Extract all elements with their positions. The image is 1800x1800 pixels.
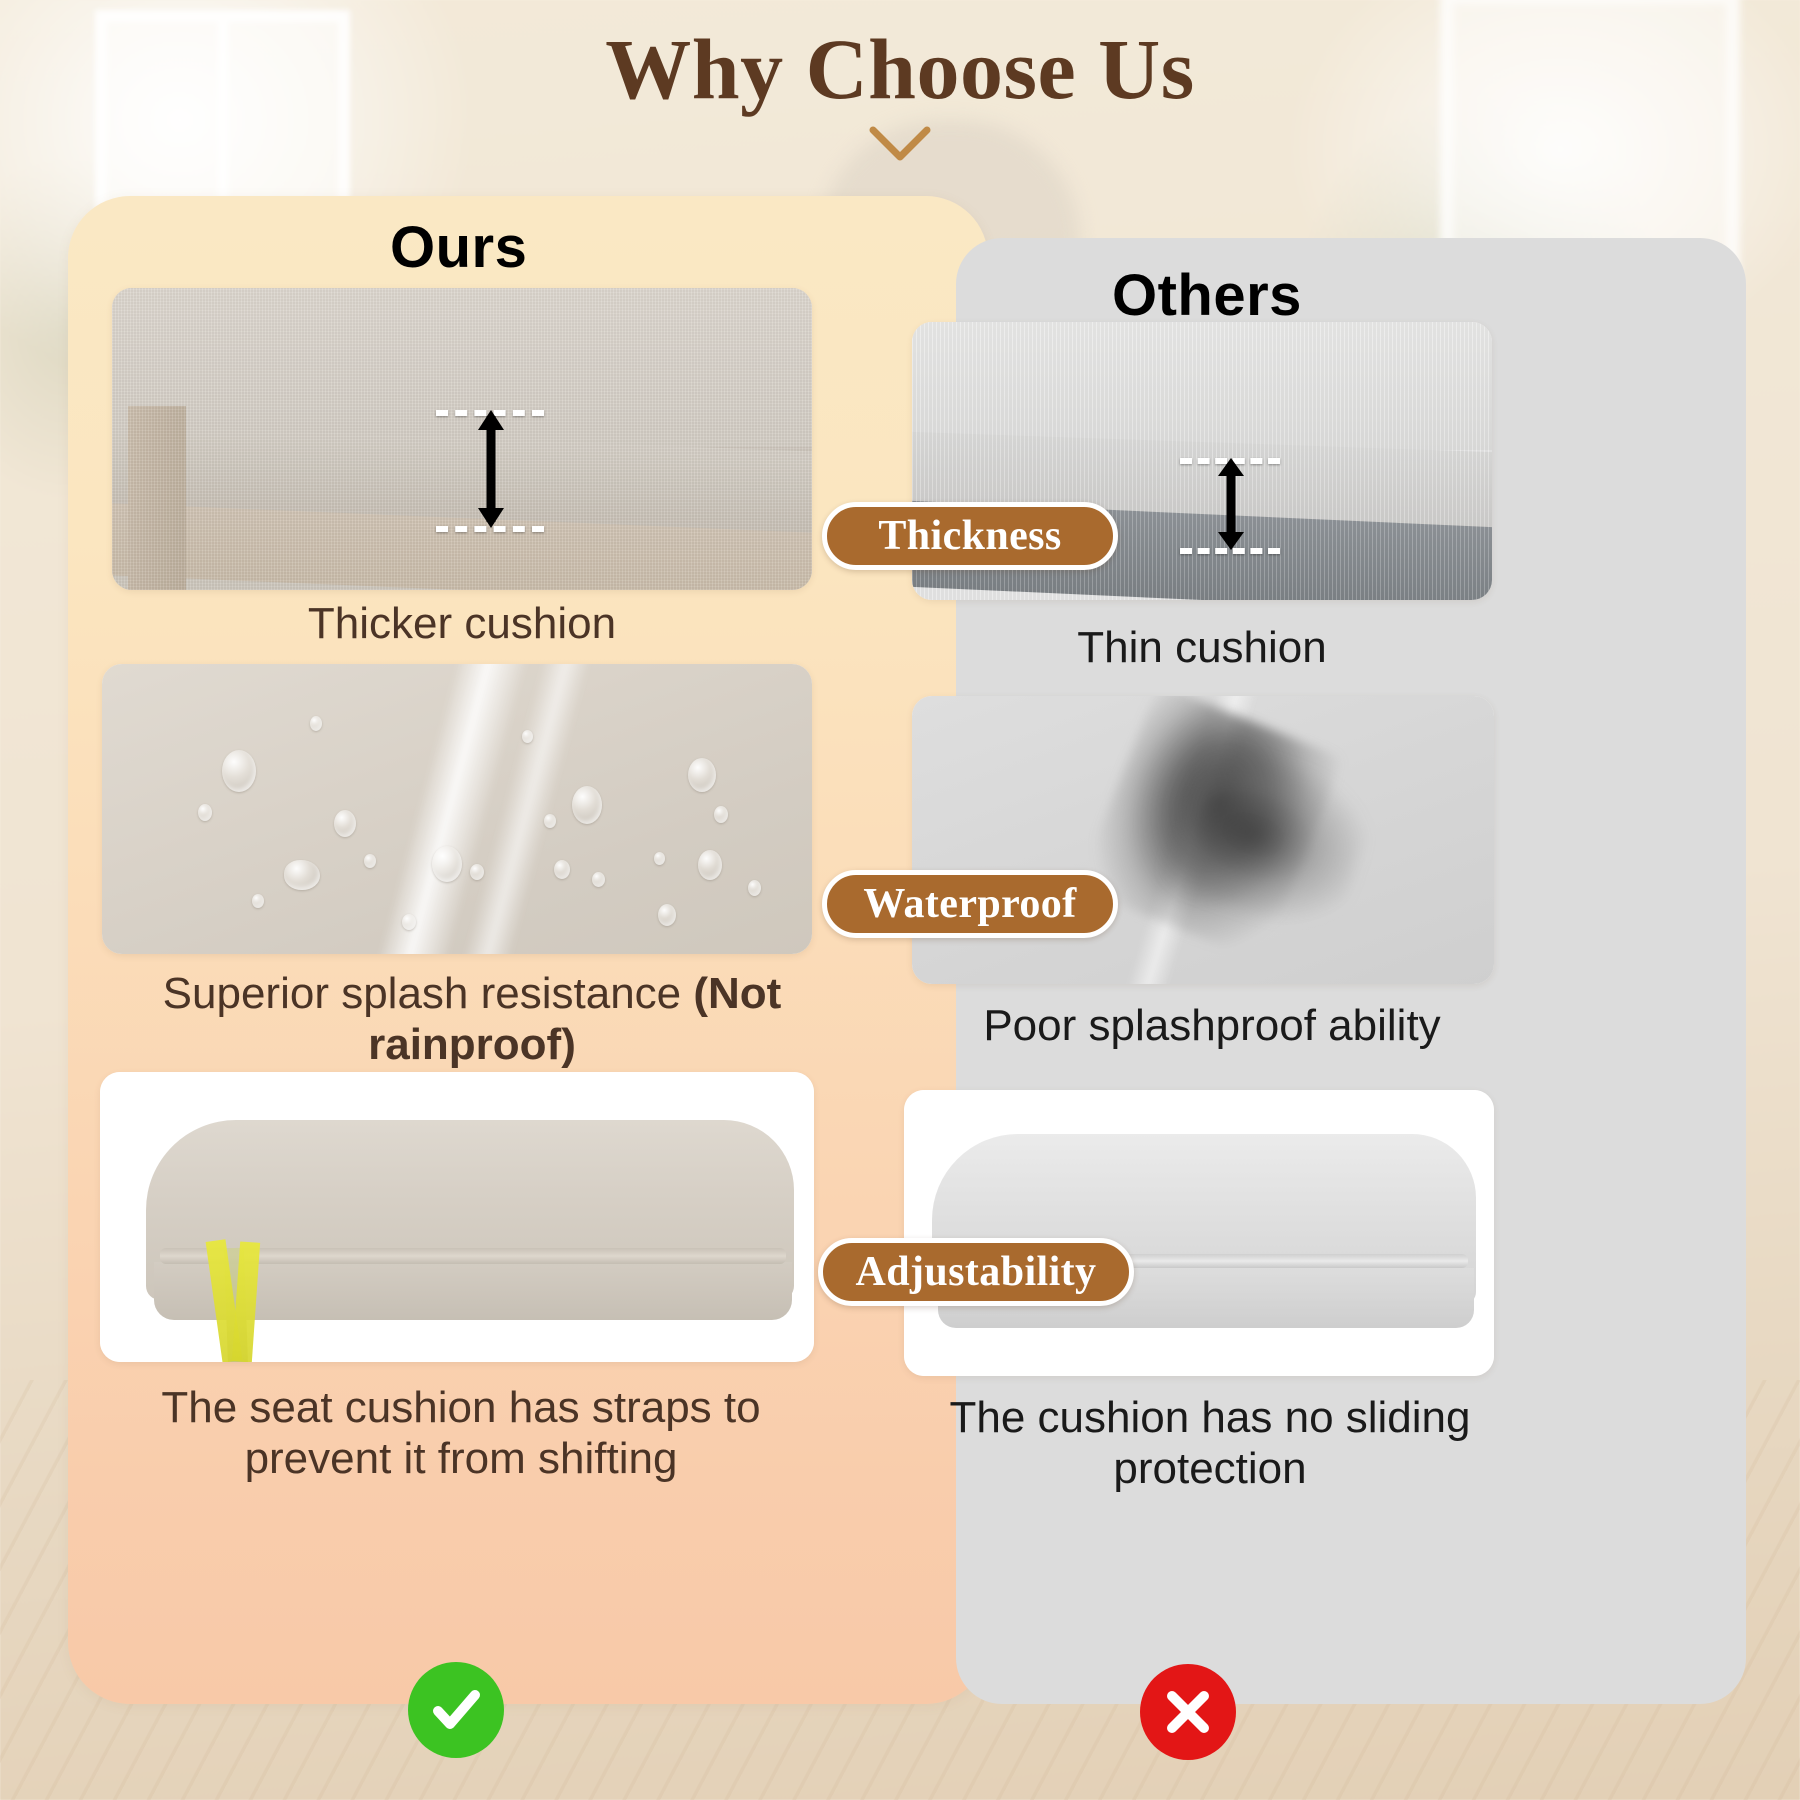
caption-others-waterproof: Poor splashproof ability	[882, 1000, 1542, 1051]
caption-ours-waterproof: Superior splash resistance (Not rainproo…	[72, 968, 872, 1070]
caption-ours-adjustability-line2: prevent it from shifting	[245, 1434, 678, 1483]
chevron-down-icon	[869, 126, 931, 162]
column-heading-others: Others	[1112, 262, 1302, 329]
caption-others-adjustability: The cushion has no sliding protection	[860, 1392, 1560, 1494]
caption-ours-thickness: Thicker cushion	[112, 598, 812, 649]
caption-ours-waterproof-plain: Superior splash resistance	[163, 969, 694, 1018]
x-circle-icon	[1140, 1664, 1236, 1760]
feature-badge-waterproof: Waterproof	[822, 870, 1118, 938]
image-water-stain	[912, 696, 1494, 984]
photo-card-ours-adjustability	[100, 1072, 814, 1362]
caption-ours-adjustability: The seat cushion has straps to prevent i…	[96, 1382, 826, 1484]
photo-card-others-waterproof	[912, 696, 1494, 984]
image-cushion-no-straps	[904, 1090, 1494, 1376]
comparison-infographic: Why Choose Us Ours Others 8cm	[0, 0, 1800, 1800]
feature-badge-adjustability: Adjustability	[818, 1238, 1134, 1306]
dimension-annotation-others-thickness	[1180, 452, 1290, 562]
image-water-beading	[102, 664, 812, 954]
page-title: Why Choose Us	[0, 26, 1800, 112]
caption-others-thickness: Thin cushion	[902, 622, 1502, 673]
image-cushion-with-straps	[100, 1072, 814, 1362]
header: Why Choose Us	[0, 26, 1800, 167]
photo-card-ours-waterproof	[102, 664, 812, 954]
caption-ours-adjustability-line1: The seat cushion has straps to	[161, 1383, 760, 1432]
check-circle-icon	[408, 1662, 504, 1758]
feature-badge-thickness: Thickness	[822, 502, 1118, 570]
column-heading-ours: Ours	[390, 214, 527, 281]
dimension-annotation-ours-thickness	[436, 404, 556, 544]
photo-card-others-adjustability	[904, 1090, 1494, 1376]
